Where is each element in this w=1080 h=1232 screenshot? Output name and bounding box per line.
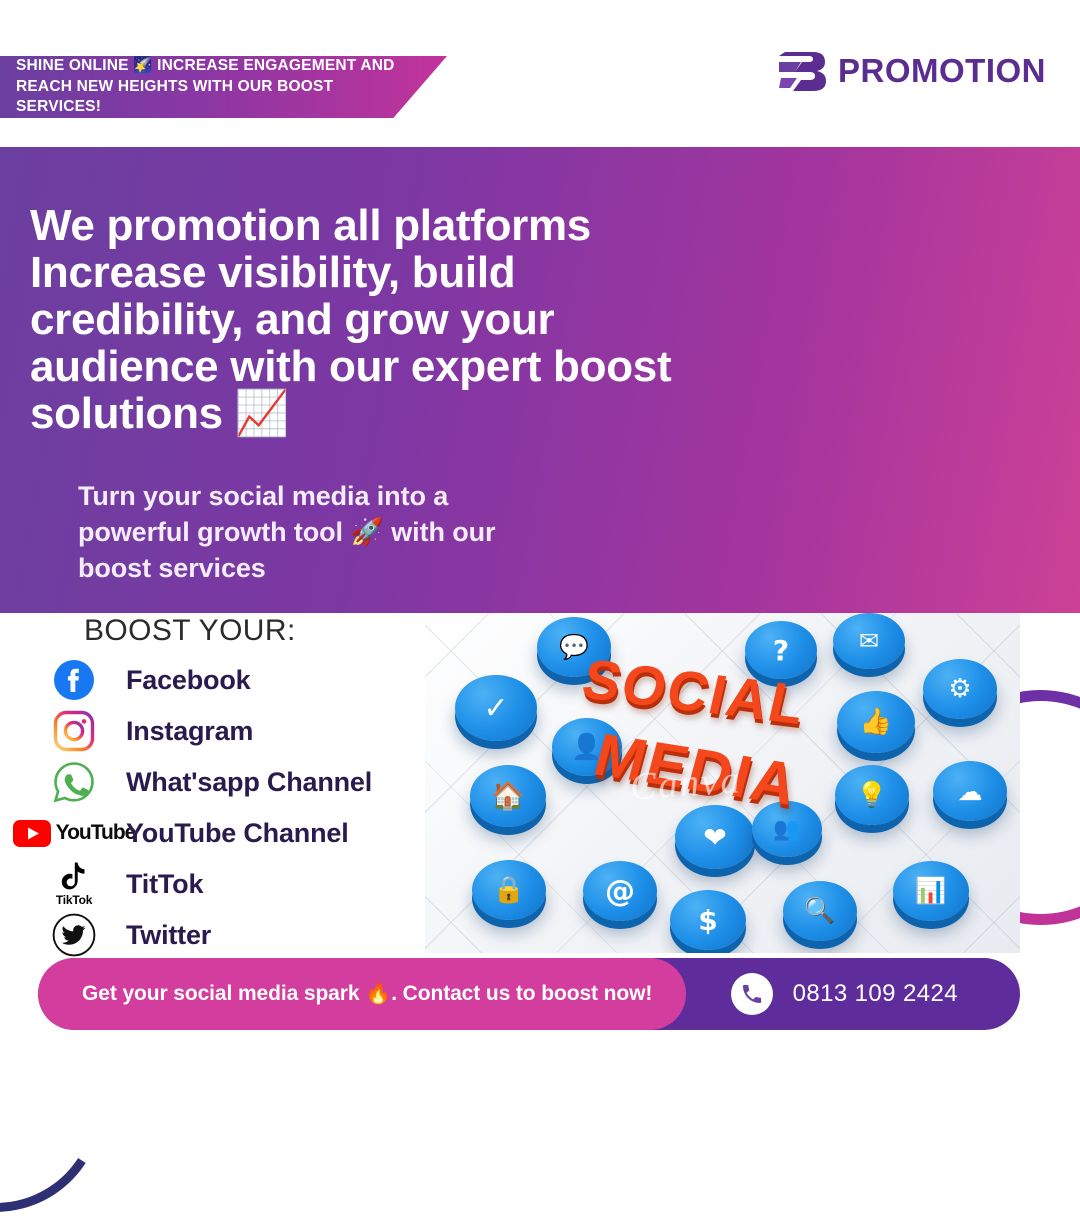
facebook-icon	[22, 659, 126, 701]
whatsapp-icon	[22, 760, 126, 804]
checkmark-icon: ✓	[455, 675, 537, 741]
cta-phone-group[interactable]: 0813 109 2424	[731, 958, 958, 1030]
platform-item-tiktok[interactable]: TikTok TitTok	[22, 859, 422, 909]
envelope-icon: ✉	[833, 613, 905, 669]
cta-pill[interactable]: Get your social media spark 🔥. Contact u…	[38, 958, 686, 1030]
instagram-icon	[22, 710, 126, 752]
platform-label: TitTok	[126, 869, 203, 900]
platform-label: Twitter	[126, 920, 211, 951]
canva-watermark: Canva	[629, 757, 744, 810]
social-media-photo: 💬 ✓ 👤 🏠 🔒 @ ❤ $ 👥 🔍 ? ✉ ⚙ 👍 💡 ☁ 📊 SOCIAL…	[425, 613, 1020, 953]
cta-bar: Get your social media spark 🔥. Contact u…	[38, 958, 1020, 1030]
platform-item-facebook[interactable]: Facebook	[22, 655, 422, 705]
phone-icon	[731, 973, 773, 1015]
home-icon: 🏠	[470, 765, 546, 827]
hero-panel: We promotion all platforms Increase visi…	[0, 147, 1080, 613]
hero-headline: We promotion all platforms Increase visi…	[30, 202, 730, 437]
platform-item-instagram[interactable]: Instagram	[22, 706, 422, 756]
tagline-text: SHINE ONLINE 🌠 INCREASE ENGAGEMENT AND R…	[0, 56, 447, 117]
boost-your-title: BOOST YOUR:	[84, 614, 296, 648]
platform-item-youtube[interactable]: YouTube YouTube Channel	[22, 808, 422, 858]
lightbulb-icon: 💡	[835, 765, 909, 825]
platform-list: Facebook Instagram	[22, 655, 422, 961]
hero-subheadline: Turn your social media into a powerful g…	[78, 479, 558, 587]
tiktok-wordmark: TikTok	[56, 893, 92, 907]
platform-item-twitter[interactable]: Twitter	[22, 910, 422, 960]
heart-icon: ❤	[675, 805, 755, 869]
cloud-icon: ☁	[933, 761, 1007, 821]
gear-icon: ⚙	[923, 659, 997, 719]
tiktok-icon: TikTok	[22, 861, 126, 907]
cta-text: Get your social media spark 🔥. Contact u…	[38, 982, 652, 1006]
dollar-icon: $	[670, 890, 746, 950]
thumbs-up-icon: 👍	[837, 691, 915, 753]
platform-label: Instagram	[126, 716, 253, 747]
at-sign-icon: @	[583, 861, 657, 921]
platform-label: YouTube Channel	[126, 818, 349, 849]
tagline-ribbon: SHINE ONLINE 🌠 INCREASE ENGAGEMENT AND R…	[0, 56, 447, 118]
lock-icon: 🔒	[472, 860, 546, 920]
platform-label: Facebook	[126, 665, 250, 696]
phone-number: 0813 109 2424	[793, 980, 958, 1008]
twitter-icon	[22, 913, 126, 957]
platform-label: What'sapp Channel	[126, 767, 372, 798]
youtube-wordmark: YouTube	[56, 821, 136, 845]
brand-name: PROMOTION	[838, 52, 1046, 90]
bar-chart-icon: 📊	[893, 861, 969, 921]
brand-logo: PROMOTION	[779, 46, 1046, 96]
youtube-icon: YouTube	[22, 820, 126, 847]
wing-b-mark-icon	[779, 46, 827, 96]
search-icon: 🔍	[783, 881, 857, 941]
platform-item-whatsapp[interactable]: What'sapp Channel	[22, 757, 422, 807]
